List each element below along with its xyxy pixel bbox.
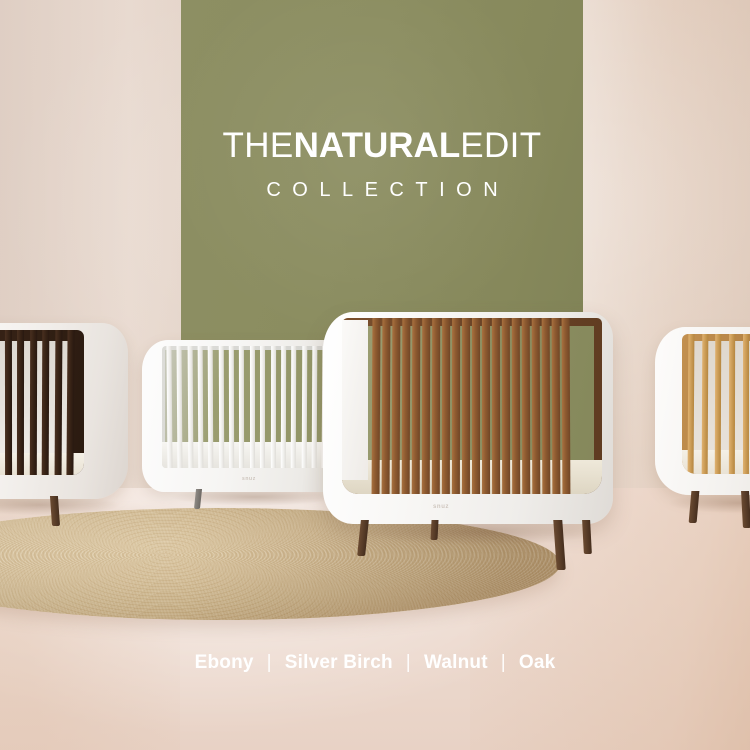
crib-slat <box>532 318 541 494</box>
caption-finish-oak[interactable]: Oak <box>517 652 558 673</box>
crib-slat <box>452 318 460 494</box>
crib-slat <box>482 318 490 494</box>
crib-slat <box>715 334 721 474</box>
crib-slat <box>54 330 62 475</box>
crib-slat <box>522 318 530 494</box>
crib-leg-walnut-back-right <box>582 520 592 554</box>
crib-frame-walnut <box>342 318 602 494</box>
crib-frame-oak <box>682 334 750 474</box>
crib-slat <box>250 346 255 468</box>
crib-slat <box>729 334 735 474</box>
crib-slat <box>442 318 450 494</box>
crib-body-walnut <box>323 312 613 524</box>
crib-slat <box>542 318 551 494</box>
crib-slat <box>462 318 470 494</box>
brand-logo-walnut: snuz <box>433 504 449 510</box>
crib-slat <box>229 346 234 468</box>
caption-finish-silver-birch[interactable]: Silver Birch <box>283 652 395 673</box>
brand-logo-silver-birch: snuz <box>242 476 256 482</box>
crib-slat <box>198 346 204 468</box>
caption-separator: | <box>256 652 283 673</box>
crib-slat <box>472 318 480 494</box>
crib-slat <box>291 346 296 468</box>
crib-side-panel-walnut <box>342 320 368 480</box>
crib-slat <box>512 318 520 494</box>
crib-slat <box>432 318 440 494</box>
crib-slat <box>239 346 244 468</box>
crib-slat <box>312 346 318 468</box>
product-crib-ebony[interactable]: snuz <box>0 323 128 499</box>
crib-body-ebony <box>0 323 128 499</box>
crib-slat <box>187 346 193 468</box>
crib-leg-walnut-back-left <box>430 520 438 540</box>
crib-slat <box>701 334 708 474</box>
crib-slat <box>219 346 224 468</box>
crib-slat <box>372 318 381 494</box>
caption-finish-ebony[interactable]: Ebony <box>193 652 256 673</box>
crib-frame-ebony <box>0 330 84 475</box>
product-crib-walnut[interactable]: snuz <box>323 312 613 524</box>
crib-slat <box>412 318 421 494</box>
crib-slat <box>422 318 430 494</box>
crib-frame-silver-birch <box>162 346 348 468</box>
crib-leg-oak-right <box>741 491 750 528</box>
crib-slat <box>260 346 265 468</box>
crib-slat <box>281 346 286 468</box>
crib-slat <box>492 318 500 494</box>
crib-slat <box>30 330 37 475</box>
crib-slat <box>552 318 561 494</box>
crib-slat <box>5 330 12 475</box>
caption-finish-walnut[interactable]: Walnut <box>422 652 490 673</box>
promotional-banner: THENATURALEDIT COLLECTION snuz <box>0 0 750 750</box>
crib-slat <box>688 334 695 474</box>
crib-slat <box>301 346 307 468</box>
crib-slat <box>270 346 275 468</box>
crib-slat <box>402 318 411 494</box>
crib-slat <box>502 318 510 494</box>
crib-slat <box>166 346 172 468</box>
crib-slat <box>17 330 24 475</box>
crib-slat <box>562 318 571 494</box>
product-crib-silver-birch[interactable]: snuz <box>142 340 347 492</box>
finish-caption-bar: Ebony|Silver Birch|Walnut|Oak <box>0 652 750 674</box>
crib-slat <box>382 318 391 494</box>
caption-separator: | <box>395 652 422 673</box>
product-crib-oak[interactable] <box>655 327 750 495</box>
caption-separator: | <box>490 652 517 673</box>
crib-slat <box>743 334 749 474</box>
finish-caption-list: Ebony|Silver Birch|Walnut|Oak <box>193 652 558 674</box>
crib-body-silver-birch <box>142 340 347 492</box>
crib-body-oak <box>655 327 750 495</box>
crib-slat <box>42 330 50 475</box>
crib-slat <box>392 318 401 494</box>
